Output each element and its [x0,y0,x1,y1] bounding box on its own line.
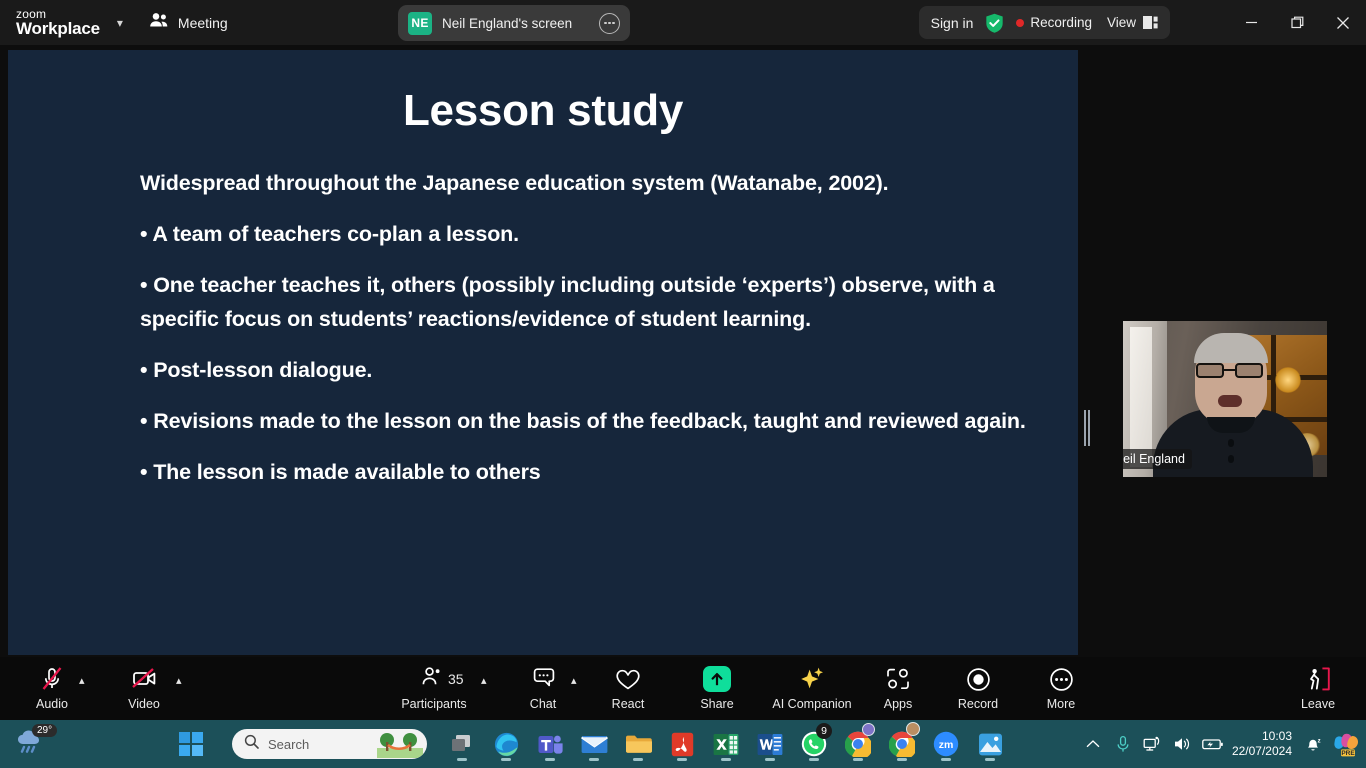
search-icon [244,734,259,754]
whatsapp-badge: 9 [816,723,832,739]
file-explorer-icon[interactable] [623,724,653,764]
taskbar-center: Search [176,720,427,768]
record-button[interactable]: Record [944,663,1012,711]
layout-icon [1143,16,1158,29]
leave-button[interactable]: Leave [1284,663,1352,711]
window-controls [1228,0,1366,45]
meeting-stage: Lesson study Widespread throughout the J… [0,45,1366,657]
ai-companion-label: AI Companion [772,697,851,711]
react-label: React [612,697,645,711]
participant-name-text: Neil England [1123,452,1185,466]
restore-icon[interactable] [1274,0,1320,45]
chat-bubble-icon [528,663,558,695]
slide-line: • A team of teachers co-plan a lesson. [140,217,1046,251]
heart-icon [614,663,642,695]
clock-date: 22/07/2024 [1232,744,1292,759]
sign-in-button[interactable]: Sign in [931,15,974,31]
excel-icon[interactable] [711,724,741,764]
weather-widget[interactable]: 29° [14,728,48,763]
edge-icon[interactable] [491,724,521,764]
participant-name-label: Neil England [1123,449,1192,469]
participants-label: Participants [401,697,466,711]
teams-icon[interactable] [535,724,565,764]
network-icon[interactable] [1138,720,1168,768]
volume-icon[interactable] [1168,720,1198,768]
apps-button[interactable]: Apps [864,663,932,711]
recording-dot-icon [1016,19,1024,27]
more-dots-icon[interactable] [599,13,620,34]
record-label: Record [958,697,998,711]
share-button[interactable]: Share [683,663,751,711]
slide-line: • Post-lesson dialogue. [140,353,1046,387]
drag-handle-icon[interactable] [1083,410,1092,446]
shield-check-icon[interactable] [985,13,1004,33]
slide-line: • The lesson is made available to others [140,455,1046,489]
slide-body: Widespread throughout the Japanese educa… [8,166,1078,489]
people-icon [149,12,169,33]
chat-caret-icon[interactable]: ▴ [571,674,577,687]
close-icon[interactable] [1320,0,1366,45]
battery-charging-icon[interactable] [1198,720,1228,768]
avatar: NE [408,12,432,35]
search-placeholder: Search [268,737,309,752]
participants-caret-icon[interactable]: ▴ [481,674,487,687]
slide-line: • One teacher teaches it, others (possib… [140,268,1046,336]
shared-screen-label: Neil England's screen [442,16,599,31]
apps-label: Apps [884,697,913,711]
video-caret-icon[interactable]: ▴ [176,674,182,687]
search-illustration-icon [377,730,423,758]
chevron-down-icon[interactable]: ▾ [117,16,123,30]
taskbar-clock[interactable]: 10:03 22/07/2024 [1232,729,1292,760]
zoom-icon[interactable]: zm [931,724,961,764]
chrome-profile-badge-icon [862,723,875,736]
video-label: Video [128,697,160,711]
clock-time: 10:03 [1262,729,1292,744]
video-button[interactable]: Video [110,663,178,711]
participants-icon [420,663,448,695]
windows-start-icon[interactable] [176,720,206,768]
zoom-toolbar: Audio ▴ Video ▴ Participants 35 ▴ [0,657,1366,720]
svg-text:PRE: PRE [1341,750,1355,757]
audio-button[interactable]: Audio [18,663,86,711]
leave-door-icon [1303,663,1333,695]
zoom-title-bar: zoom Workplace ▾ Meeting NE Neil England… [0,0,1366,45]
chrome-profile-icon[interactable] [887,724,917,764]
bell-quiet-icon[interactable]: z [1298,720,1328,768]
weather-temperature: 29° [32,724,57,737]
chat-label: Chat [530,697,556,711]
titlebar-status-group: Sign in Recording View [919,6,1170,39]
more-label: More [1047,697,1075,711]
ai-companion-button[interactable]: AI Companion [765,663,859,711]
meeting-tab[interactable]: Meeting [149,12,228,33]
svg-text:zm: zm [939,739,954,751]
view-label: View [1107,15,1136,30]
mail-icon[interactable] [579,724,609,764]
svg-text:z: z [1318,738,1321,744]
camera-muted-icon [129,663,159,695]
audio-label: Audio [36,697,68,711]
acrobat-icon[interactable] [667,724,697,764]
participant-video-tile[interactable]: Neil England [1123,321,1327,477]
microphone-muted-icon [37,663,67,695]
shared-slide: Lesson study Widespread throughout the J… [8,50,1078,655]
slide-title: Lesson study [8,86,1078,136]
microphone-icon[interactable] [1108,720,1138,768]
react-button[interactable]: React [594,663,662,711]
chrome-icon[interactable] [843,724,873,764]
shared-screen-pill[interactable]: NE Neil England's screen [398,5,630,41]
more-button[interactable]: More [1027,663,1095,711]
windows-taskbar: 29° Search [0,720,1366,768]
recording-indicator[interactable]: Recording [1016,15,1092,30]
chat-button[interactable]: Chat [509,663,577,711]
user-avatar-badge-icon [906,722,920,736]
minimize-icon[interactable] [1228,0,1274,45]
word-icon[interactable] [755,724,785,764]
logo-line-workplace: Workplace [16,20,100,37]
zoom-workplace-logo: zoom Workplace [16,8,100,38]
photos-icon[interactable] [975,724,1005,764]
leave-label: Leave [1301,697,1335,711]
share-label: Share [700,697,733,711]
search-input[interactable]: Search [232,729,427,759]
meeting-tab-label: Meeting [178,15,228,31]
view-button[interactable]: View [1107,15,1158,30]
recording-label: Recording [1030,15,1092,30]
system-tray: 10:03 22/07/2024 z PRE [1078,720,1366,768]
share-screen-icon [703,663,731,695]
sparkle-icon [797,663,827,695]
audio-caret-icon[interactable]: ▴ [79,674,85,687]
record-icon [965,663,992,695]
task-view-icon[interactable] [447,724,477,764]
whatsapp-icon[interactable]: 9 [799,724,829,764]
more-dots-icon [1048,663,1075,695]
apps-icon [884,663,912,695]
taskbar-app-icons: 9 [447,720,1005,768]
participants-count: 35 [448,671,464,687]
slide-line: Widespread throughout the Japanese educa… [140,166,1046,200]
chevron-up-icon[interactable] [1078,720,1108,768]
slide-line: • Revisions made to the lesson on the ba… [140,404,1046,438]
copilot-pre-icon[interactable]: PRE [1328,720,1366,768]
